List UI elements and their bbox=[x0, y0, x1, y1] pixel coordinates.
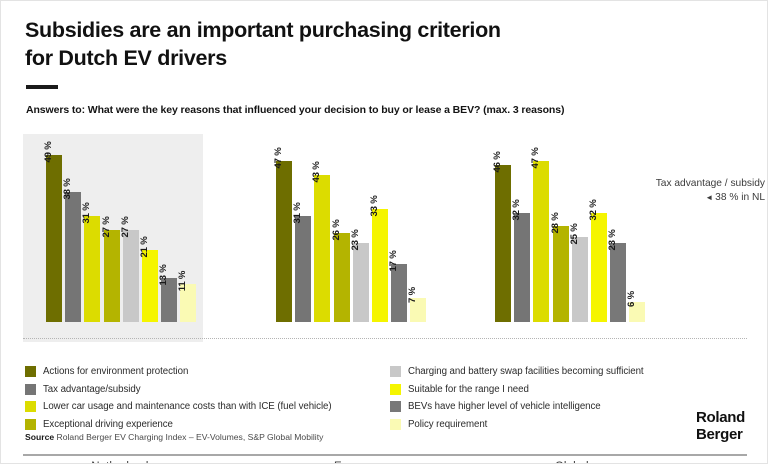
bar-slot[interactable]: 13 % bbox=[161, 134, 177, 322]
legend-label: Lower car usage and maintenance costs th… bbox=[43, 401, 332, 412]
bar[interactable] bbox=[46, 155, 62, 322]
bar[interactable] bbox=[314, 175, 330, 322]
bar-slot[interactable]: 21 % bbox=[142, 134, 158, 322]
bar-slot[interactable]: 11 % bbox=[180, 134, 196, 322]
chart-legend: Actions for environment protectionTax ad… bbox=[25, 363, 745, 433]
bar[interactable] bbox=[353, 243, 369, 322]
chart-page: Subsidies are an important purchasing cr… bbox=[0, 0, 768, 464]
bar-value-label: 47 % bbox=[530, 148, 541, 169]
bar-slot[interactable]: 23 % bbox=[610, 134, 626, 322]
bar-slot[interactable]: 26 % bbox=[334, 134, 350, 322]
legend-swatch bbox=[25, 419, 36, 430]
legend-label: Charging and battery swap facilities bec… bbox=[408, 366, 644, 377]
bar-value-label: 17 % bbox=[388, 250, 399, 271]
bar[interactable] bbox=[533, 161, 549, 322]
bar[interactable] bbox=[391, 264, 407, 322]
legend-swatch bbox=[390, 384, 401, 395]
gridline-annotation: Tax advantage / subsidy ◄38 % in NL bbox=[656, 177, 765, 204]
source-text: Roland Berger EV Charging Index – EV-Vol… bbox=[57, 432, 324, 442]
legend-swatch bbox=[390, 401, 401, 412]
bar-value-label: 27 % bbox=[120, 216, 131, 237]
source-note: Source Roland Berger EV Charging Index –… bbox=[25, 432, 323, 442]
bar-value-label: 31 % bbox=[81, 203, 92, 224]
bar-value-label: 21 % bbox=[139, 237, 150, 258]
bar-slot[interactable]: 47 % bbox=[276, 134, 292, 322]
legend-swatch bbox=[25, 366, 36, 377]
legend-item[interactable]: BEVs have higher level of vehicle intell… bbox=[390, 398, 745, 416]
bar-slot[interactable]: 17 % bbox=[391, 134, 407, 322]
bar[interactable] bbox=[104, 230, 120, 322]
legend-label: BEVs have higher level of vehicle intell… bbox=[408, 401, 601, 412]
legend-swatch bbox=[25, 384, 36, 395]
annotation-title: Tax advantage / subsidy bbox=[656, 177, 765, 190]
bar-value-label: 11 % bbox=[177, 271, 188, 292]
bar-slot[interactable]: 23 % bbox=[353, 134, 369, 322]
bar[interactable] bbox=[514, 213, 530, 322]
legend-swatch bbox=[25, 401, 36, 412]
bar-slot[interactable]: 49 % bbox=[46, 134, 62, 322]
bar[interactable] bbox=[276, 161, 292, 322]
bar[interactable] bbox=[123, 230, 139, 322]
bar[interactable] bbox=[295, 216, 311, 322]
title-accent-rule bbox=[26, 85, 58, 89]
bar[interactable] bbox=[572, 237, 588, 322]
bar-value-label: 49 % bbox=[43, 141, 54, 162]
legend-item[interactable]: Actions for environment protection bbox=[25, 363, 390, 381]
bar[interactable] bbox=[591, 213, 607, 322]
bar[interactable] bbox=[142, 250, 158, 322]
legend-label: Suitable for the range I need bbox=[408, 384, 529, 395]
legend-label: Exceptional driving experience bbox=[43, 419, 173, 430]
bar-value-label: 47 % bbox=[273, 148, 284, 169]
bar-slot[interactable]: 32 % bbox=[591, 134, 607, 322]
bar-slot[interactable]: 46 % bbox=[495, 134, 511, 322]
bar-value-label: 26 % bbox=[331, 220, 342, 241]
bar-slot[interactable]: 38 % bbox=[65, 134, 81, 322]
bar-value-label: 43 % bbox=[311, 161, 322, 182]
bar-value-label: 32 % bbox=[588, 199, 599, 220]
bar[interactable] bbox=[495, 165, 511, 322]
legend-item[interactable]: Policy requirement bbox=[390, 416, 745, 434]
bar-value-label: 23 % bbox=[607, 230, 618, 251]
legend-label: Tax advantage/subsidy bbox=[43, 384, 141, 395]
annotation-value: 38 % in NL bbox=[715, 192, 765, 203]
legend-column-right: Charging and battery swap facilities bec… bbox=[390, 363, 745, 433]
bar-slot[interactable]: 32 % bbox=[514, 134, 530, 322]
source-label: Source bbox=[25, 432, 54, 442]
bar-slot[interactable]: 28 % bbox=[553, 134, 569, 322]
bar[interactable] bbox=[610, 243, 626, 322]
legend-swatch bbox=[390, 419, 401, 430]
bar-slot[interactable]: 7 % bbox=[410, 134, 426, 322]
bar-value-label: 23 % bbox=[350, 230, 361, 251]
roland-berger-logo: Roland Berger bbox=[696, 410, 745, 444]
bar-value-label: 46 % bbox=[492, 151, 503, 172]
bar-value-label: 25 % bbox=[569, 223, 580, 244]
bar-slot[interactable]: 27 % bbox=[123, 134, 139, 322]
legend-column-left: Actions for environment protectionTax ad… bbox=[25, 363, 390, 433]
left-arrow-icon: ◄ bbox=[705, 193, 713, 202]
bar-value-label: 38 % bbox=[62, 179, 73, 200]
chart-plot-area: 49 %38 %31 %27 %27 %21 %13 %11 %Netherla… bbox=[23, 134, 747, 322]
bar-slot[interactable]: 43 % bbox=[314, 134, 330, 322]
bar-value-label: 28 % bbox=[550, 213, 561, 234]
legend-item[interactable]: Tax advantage/subsidy bbox=[25, 381, 390, 399]
bar[interactable] bbox=[65, 192, 81, 322]
bar-value-label: 33 % bbox=[369, 196, 380, 217]
bar[interactable] bbox=[334, 233, 350, 322]
reference-gridline-38 bbox=[23, 338, 747, 339]
bar-slot[interactable]: 31 % bbox=[295, 134, 311, 322]
annotation-value-row: ◄38 % in NL bbox=[656, 191, 765, 204]
bar[interactable] bbox=[372, 209, 388, 322]
bar-slot[interactable]: 27 % bbox=[104, 134, 120, 322]
bar-value-label: 7 % bbox=[407, 287, 418, 303]
chart-subtitle: Answers to: What were the key reasons th… bbox=[26, 104, 564, 116]
bar-value-label: 13 % bbox=[158, 264, 169, 285]
page-title: Subsidies are an important purchasing cr… bbox=[25, 17, 665, 72]
bar-slot[interactable]: 47 % bbox=[533, 134, 549, 322]
legend-item[interactable]: Exceptional driving experience bbox=[25, 416, 390, 434]
legend-item[interactable]: Suitable for the range I need bbox=[390, 381, 745, 399]
legend-item[interactable]: Lower car usage and maintenance costs th… bbox=[25, 398, 390, 416]
bar-slot[interactable]: 25 % bbox=[572, 134, 588, 322]
bar-slot[interactable]: 31 % bbox=[84, 134, 100, 322]
bar-slot[interactable]: 33 % bbox=[372, 134, 388, 322]
bar-value-label: 32 % bbox=[511, 199, 522, 220]
chart-baseline bbox=[23, 454, 747, 456]
bar[interactable] bbox=[84, 216, 100, 322]
legend-label: Policy requirement bbox=[408, 419, 487, 430]
bar-value-label: 6 % bbox=[626, 291, 637, 307]
legend-label: Actions for environment protection bbox=[43, 366, 188, 377]
bars-container: 49 %38 %31 %27 %27 %21 %13 %11 % bbox=[46, 134, 200, 322]
bar-value-label: 31 % bbox=[292, 203, 303, 224]
bars-container: 47 %31 %43 %26 %23 %33 %17 %7 % bbox=[276, 134, 430, 322]
bar-value-label: 27 % bbox=[101, 216, 112, 237]
legend-swatch bbox=[390, 366, 401, 377]
bar[interactable] bbox=[553, 226, 569, 322]
legend-item[interactable]: Charging and battery swap facilities bec… bbox=[390, 363, 745, 381]
bar-slot[interactable]: 6 % bbox=[629, 134, 645, 322]
bars-container: 46 %32 %47 %28 %25 %32 %23 %6 % bbox=[495, 134, 649, 322]
